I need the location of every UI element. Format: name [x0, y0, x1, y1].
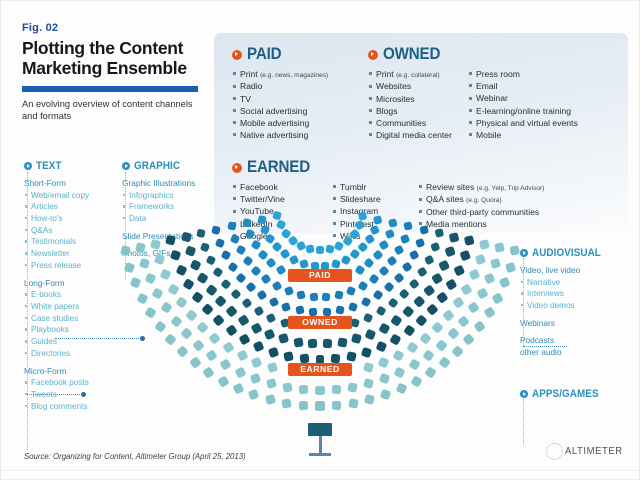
seat-block	[160, 269, 172, 281]
seat-block	[361, 296, 372, 307]
seat-block	[403, 305, 415, 317]
seat-block	[322, 292, 331, 301]
seat-block	[257, 249, 268, 260]
seat-block	[387, 255, 398, 266]
seat-block	[215, 238, 226, 249]
seat-block	[462, 333, 475, 346]
seat-block	[222, 341, 234, 353]
seat-block	[236, 272, 248, 284]
seat-block	[383, 281, 395, 293]
list-item: Slideshare	[332, 193, 418, 205]
title-block: Fig. 02 Plotting the Content Marketing E…	[22, 22, 202, 122]
seat-block	[378, 265, 389, 276]
list-item: Websites	[368, 80, 468, 92]
podium-top	[308, 423, 332, 436]
seat-block	[431, 321, 444, 334]
seat-block	[348, 398, 359, 409]
seat-block	[271, 280, 282, 291]
seat-block	[474, 254, 485, 265]
guide-connector-audiovisual	[523, 346, 567, 347]
podium-stem	[319, 436, 322, 453]
format-heading-graphic: GRAPHIC	[122, 160, 214, 172]
seat-block	[380, 389, 392, 401]
seat-block	[211, 225, 221, 235]
guide-rail-audiovisual	[523, 258, 524, 346]
list-item: Data	[122, 213, 214, 225]
arrow-circle-icon	[232, 50, 242, 60]
seat-block	[241, 298, 253, 310]
list-item: Webinar	[468, 92, 578, 104]
seat-block	[197, 272, 209, 284]
list-item: Communities	[368, 117, 468, 129]
seat-block	[483, 306, 496, 319]
seat-block	[160, 302, 172, 314]
seat-block	[325, 244, 334, 253]
list-item: Tumblr	[332, 181, 418, 193]
seat-block	[427, 304, 439, 316]
seat-block	[364, 234, 375, 245]
seat-block	[251, 265, 262, 276]
seat-block	[406, 341, 418, 353]
format-heading-text: TEXT	[24, 160, 120, 172]
seat-block	[265, 257, 276, 268]
seat-block	[461, 283, 473, 295]
guide-endpoint-graphic	[140, 336, 145, 341]
poe-columns-owned: Print (e.g. collateral)WebsitesMicrosite…	[368, 68, 578, 141]
seat-block	[245, 281, 257, 293]
seat-block	[181, 327, 194, 340]
seat-block	[377, 357, 389, 369]
seat-block	[250, 322, 261, 333]
list-item: Mobile	[468, 129, 578, 141]
seat-block	[400, 234, 410, 244]
seat-block	[201, 304, 213, 316]
list-item-note: (e.g. Yelp, Trip Advisor)	[477, 185, 545, 192]
seat-block	[176, 297, 188, 309]
seat-block	[232, 383, 244, 395]
footer-divider	[0, 470, 640, 471]
seat-block	[473, 320, 486, 333]
list-item: How-to's	[24, 213, 120, 225]
poe-list-owned-1: Press roomEmailWebinarE-learning/online …	[468, 68, 578, 141]
seat-block	[220, 250, 231, 261]
seat-block	[348, 302, 358, 312]
format-group-label: Short-Form	[24, 178, 120, 190]
poe-heading-paid: PAID	[232, 45, 328, 64]
seat-block	[425, 366, 438, 379]
list-item: Q&As	[24, 225, 120, 237]
seat-block	[139, 258, 150, 269]
seat-block	[434, 228, 444, 238]
list-item: Articles	[24, 201, 120, 213]
seat-block	[298, 400, 308, 410]
seat-block	[306, 244, 315, 253]
list-item: Print (e.g. news, magazines)	[232, 68, 328, 80]
list-item: Physical and virtual events	[468, 117, 578, 129]
seat-block	[283, 351, 293, 361]
seat-block	[256, 290, 267, 301]
list-item: Digital media center	[368, 129, 468, 141]
seat-block	[236, 350, 248, 362]
seat-block	[403, 325, 415, 337]
seat-block	[453, 265, 465, 277]
list-item: Q&A sites (e.g. Quora)	[418, 193, 544, 205]
seat-block	[136, 292, 148, 304]
title-rule	[22, 86, 198, 92]
arrow-circle-icon	[122, 162, 130, 170]
seat-block	[253, 341, 264, 352]
seat-block	[293, 337, 303, 347]
seat-block	[431, 272, 443, 284]
seat-block	[364, 394, 375, 405]
seat-block	[283, 286, 293, 296]
seat-block	[154, 320, 167, 333]
seat-block	[135, 242, 146, 253]
seat-block	[242, 218, 251, 227]
seat-block	[361, 346, 372, 357]
guide-connector-graphic	[55, 338, 143, 339]
seat-block	[165, 333, 178, 346]
seat-block	[452, 297, 464, 309]
seat-block	[351, 333, 361, 343]
poe-heading-owned: OWNED	[368, 45, 578, 64]
list-item: Infographics	[122, 190, 214, 202]
guide-rail-text	[27, 172, 28, 450]
seat-block	[372, 290, 383, 301]
seat-block	[230, 289, 242, 301]
guide-endpoint-text	[81, 392, 86, 397]
seat-block	[316, 246, 324, 254]
seat-block	[209, 332, 221, 344]
seat-block	[449, 232, 459, 242]
seat-block	[335, 306, 345, 316]
seat-block	[212, 315, 224, 327]
seat-block	[215, 295, 227, 307]
logo-text: ALTIMETER	[565, 446, 623, 457]
seat-block	[409, 250, 420, 261]
seat-block	[505, 261, 517, 273]
poe-section-owned: OWNEDPrint (e.g. collateral)WebsitesMicr…	[368, 45, 578, 141]
seat-block	[167, 283, 179, 295]
seat-block	[392, 350, 404, 362]
seat-block	[331, 259, 340, 268]
seat-block	[332, 400, 342, 410]
seat-block	[181, 232, 191, 242]
arrow-circle-icon	[368, 50, 378, 60]
format-title-text: TEXT	[36, 160, 62, 172]
seat-block	[346, 286, 356, 296]
seat-block	[175, 265, 187, 277]
seat-block	[182, 278, 194, 290]
seat-block	[281, 398, 292, 409]
seat-block	[408, 358, 420, 370]
altimeter-logo: ALTIMETER	[546, 443, 626, 460]
guide-rail-graphic	[125, 172, 126, 280]
seat-block	[154, 254, 165, 265]
seat-block	[315, 386, 324, 395]
seat-block	[189, 356, 202, 369]
seat-block	[185, 246, 196, 257]
format-title-graphic: GRAPHIC	[134, 160, 180, 172]
seat-block	[191, 291, 203, 303]
source-prefix: Source:	[24, 452, 51, 461]
seat-block	[212, 267, 224, 279]
page-title: Plotting the Content Marketing Ensemble	[22, 39, 202, 79]
seat-block	[308, 339, 317, 348]
seat-block	[220, 278, 232, 290]
seat-block	[435, 339, 448, 352]
seat-block	[250, 373, 262, 385]
seat-block	[295, 306, 305, 316]
seat-block	[257, 215, 266, 224]
seat-block	[346, 351, 356, 361]
seat-block	[423, 284, 435, 296]
page-subtitle: An evolving overview of content channels…	[22, 98, 202, 123]
seat-block	[150, 239, 161, 250]
seat-block	[483, 273, 495, 285]
seat-block	[242, 255, 253, 266]
seat-block	[419, 332, 431, 344]
seat-block	[438, 356, 451, 369]
seat-block	[437, 291, 449, 303]
list-item-note: (e.g. news, magazines)	[260, 72, 328, 79]
seat-block	[235, 245, 246, 256]
seat-block	[439, 259, 450, 270]
seat-block	[364, 257, 375, 268]
seat-block	[378, 322, 389, 333]
seat-block	[459, 250, 470, 261]
seat-block	[309, 292, 318, 301]
seat-block	[410, 375, 422, 387]
seat-block	[299, 385, 309, 395]
poe-section-paid: PAIDPrint (e.g. news, magazines)RadioTVS…	[232, 45, 328, 141]
seat-block	[225, 305, 237, 317]
list-item: Blogs	[368, 105, 468, 117]
seat-block	[479, 239, 490, 250]
seat-block	[365, 328, 376, 339]
seat-block	[266, 312, 277, 323]
seat-block	[238, 333, 250, 345]
seat-block	[234, 366, 246, 378]
seat-block	[190, 259, 201, 270]
poe-columns-paid: Print (e.g. news, magazines)RadioTVSocia…	[232, 68, 328, 141]
seat-block	[368, 273, 379, 284]
seat-block	[281, 302, 291, 312]
seat-block	[334, 290, 344, 300]
seat-block	[225, 325, 237, 337]
seat-block	[387, 298, 399, 310]
list-item: E-learning/online training	[468, 105, 578, 117]
poe-list-owned-0: Print (e.g. collateral)WebsitesMicrosite…	[368, 68, 468, 141]
list-item: TV	[232, 93, 328, 105]
dotted-circle-icon	[546, 443, 563, 460]
zone-label-paid: PAID	[288, 269, 352, 282]
seat-block	[265, 394, 276, 405]
zone-label-owned: OWNED	[288, 316, 352, 329]
seat-block	[464, 235, 474, 245]
seat-block	[265, 378, 276, 389]
poe-heading-earned: EARNED	[232, 158, 544, 177]
seat-block	[129, 277, 141, 289]
list-item: Print (e.g. collateral)	[368, 68, 468, 80]
seat-block	[430, 242, 441, 253]
source-note: Source: Organizing for Content, Altimete…	[24, 452, 246, 461]
seat-block	[416, 267, 428, 279]
list-item: Microsites	[368, 93, 468, 105]
seat-block	[398, 289, 410, 301]
arrow-circle-icon	[24, 162, 32, 170]
seat-block	[251, 357, 263, 369]
seat-block	[166, 235, 176, 245]
seat-block	[415, 315, 427, 327]
seat-block	[490, 258, 501, 269]
seat-block	[422, 349, 435, 362]
seat-block	[217, 375, 229, 387]
figure-label: Fig. 02	[22, 22, 202, 34]
seat-block	[245, 229, 255, 239]
seat-block	[363, 312, 374, 323]
list-item: Press room	[468, 68, 578, 80]
seat-block	[332, 385, 342, 395]
seat-block	[145, 273, 157, 285]
seat-block	[248, 389, 260, 401]
seat-block	[468, 269, 480, 281]
seat-block	[267, 362, 278, 373]
list-item-note: (e.g. collateral)	[396, 72, 440, 79]
seat-block	[445, 246, 456, 257]
list-item: Web/email copy	[24, 190, 120, 202]
seat-block	[196, 228, 206, 238]
seat-block	[341, 255, 351, 265]
poe-title-earned: EARNED	[247, 158, 310, 177]
seat-block	[145, 306, 158, 319]
source-title: Organizing for Content,	[53, 452, 134, 461]
seat-block	[393, 272, 405, 284]
seat-block	[350, 249, 361, 260]
seat-block	[424, 255, 435, 266]
seat-block	[260, 273, 271, 284]
seat-block	[315, 401, 324, 410]
seat-block	[268, 346, 279, 357]
seat-block	[458, 315, 471, 328]
list-item: Facebook	[232, 181, 332, 193]
seat-block	[391, 314, 403, 326]
seat-block	[376, 306, 387, 317]
seat-block	[264, 328, 275, 339]
seat-block	[227, 261, 238, 272]
seat-block	[203, 366, 216, 379]
seat-block	[354, 265, 365, 276]
seat-block	[376, 341, 387, 352]
seat-block	[219, 358, 231, 370]
list-item: Social advertising	[232, 105, 328, 117]
seat-block	[509, 245, 520, 256]
seat-block	[362, 362, 373, 373]
seat-block	[394, 245, 405, 256]
seat-block	[494, 242, 505, 253]
list-item: Mobile advertising	[232, 117, 328, 129]
seat-block	[476, 288, 488, 300]
poe-title-owned: OWNED	[383, 45, 440, 64]
seat-block	[467, 302, 479, 314]
arrow-circle-icon	[232, 163, 242, 173]
seat-block	[152, 288, 164, 300]
seat-block	[337, 337, 347, 347]
seat-block	[499, 277, 511, 289]
seat-block	[348, 382, 358, 392]
seat-block	[200, 242, 211, 253]
seat-block	[379, 239, 390, 250]
seat-block	[413, 295, 425, 307]
seat-block	[250, 239, 261, 250]
seat-block	[282, 382, 292, 392]
seat-block	[185, 309, 197, 321]
seat-block	[253, 306, 264, 317]
format-group-label: Graphic Illustrations	[122, 178, 214, 190]
format-group: Graphic IllustrationsInfographicsFramewo…	[122, 178, 214, 225]
seat-block	[390, 333, 402, 345]
guide-rail-appsgames	[523, 399, 524, 445]
seat-block	[205, 284, 217, 296]
seat-block	[379, 373, 391, 385]
seat-block	[268, 296, 279, 307]
source-rest: Altimeter Group (April 25, 2013)	[136, 452, 246, 461]
seat-block	[358, 280, 369, 291]
seat-block	[275, 265, 286, 276]
seat-block	[408, 278, 420, 290]
list-item: Review sites (e.g. Yelp, Trip Advisor)	[418, 181, 544, 193]
list-item: Email	[468, 80, 578, 92]
zone-label-earned: EARNED	[288, 363, 352, 376]
infographic-canvas: Fig. 02 Plotting the Content Marketing E…	[0, 0, 640, 480]
seat-block	[296, 290, 306, 300]
seat-block	[205, 349, 218, 362]
format-group-list: InfographicsFrameworksData	[122, 190, 214, 225]
list-item: Native advertising	[232, 129, 328, 141]
list-item: Twitter/Vine	[232, 193, 332, 205]
seat-block	[299, 354, 309, 364]
poe-list-paid-0: Print (e.g. news, magazines)RadioTVSocia…	[232, 68, 328, 141]
seat-block	[401, 261, 412, 272]
seat-block	[446, 278, 458, 290]
seat-block	[289, 255, 299, 265]
list-item: Other third-party communities	[418, 206, 544, 218]
list-item: Frameworks	[122, 201, 214, 213]
amphitheater-diagram: PAIDOWNEDEARNED	[0, 236, 640, 448]
seat-block	[230, 234, 240, 244]
seat-block	[442, 309, 454, 321]
seat-block	[358, 242, 369, 253]
list-item: Radio	[232, 80, 328, 92]
seat-block	[192, 339, 205, 352]
seat-block	[299, 259, 308, 268]
seat-block	[394, 366, 406, 378]
seat-block	[331, 354, 341, 364]
list-item: YouTube	[232, 205, 332, 217]
seat-block	[415, 238, 426, 249]
podium-base	[309, 453, 331, 456]
seat-block	[372, 249, 383, 260]
seat-block	[296, 241, 306, 251]
seat-block	[237, 314, 249, 326]
seat-block	[176, 345, 189, 358]
seat-block	[451, 345, 464, 358]
seat-block	[170, 250, 181, 261]
seat-block	[363, 378, 374, 389]
seat-block	[447, 327, 460, 340]
list-item-note: (e.g. Quora)	[466, 197, 502, 204]
seat-block	[395, 383, 407, 395]
